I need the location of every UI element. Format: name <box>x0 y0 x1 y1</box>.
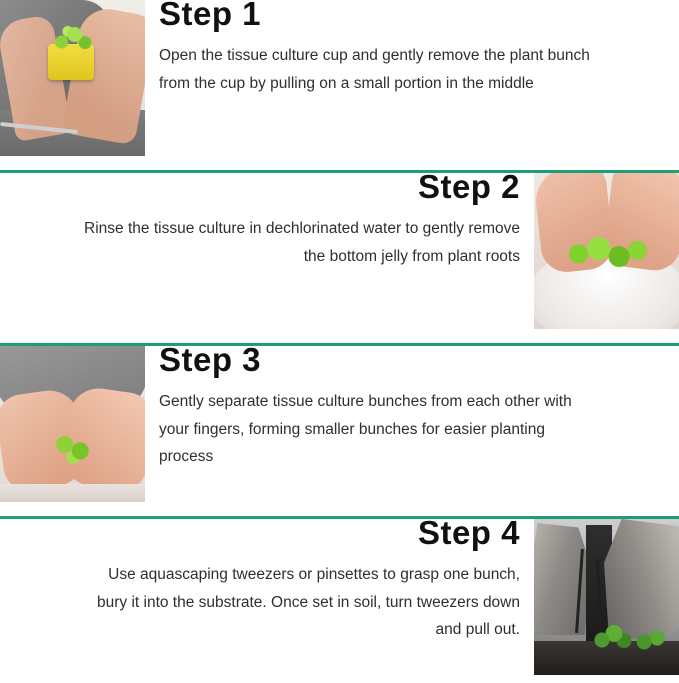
step-4-text-column: Step 4 Use aquascaping tweezers or pinse… <box>0 519 534 683</box>
step-1-title: Step 1 <box>159 0 261 32</box>
step-1-row: Step 1 Open the tissue culture cup and g… <box>0 0 679 170</box>
instruction-steps-page: Step 1 Open the tissue culture cup and g… <box>0 0 679 683</box>
step-3-photo <box>0 346 145 502</box>
step-3-row: Step 3 Gently separate tissue culture bu… <box>0 346 679 516</box>
surface-shape <box>0 484 145 502</box>
step-4-body: Use aquascaping tweezers or pinsettes to… <box>80 561 520 644</box>
step-2-row: Step 2 Rinse the tissue culture in dechl… <box>0 173 679 343</box>
green-plant-shape <box>46 24 98 54</box>
step-1-text-column: Step 1 Open the tissue culture cup and g… <box>145 0 679 170</box>
step-3-body: Gently separate tissue culture bunches f… <box>159 388 599 471</box>
step-1-photo <box>0 0 145 156</box>
step-1-body: Open the tissue culture cup and gently r… <box>159 42 599 97</box>
step-2-text-column: Step 2 Rinse the tissue culture in dechl… <box>0 173 534 343</box>
green-plant-shape <box>562 231 654 275</box>
step-3-text-column: Step 3 Gently separate tissue culture bu… <box>145 346 679 516</box>
step-3-title: Step 3 <box>159 342 261 378</box>
green-plant-shape <box>50 430 102 466</box>
step-4-row: Step 4 Use aquascaping tweezers or pinse… <box>0 519 679 683</box>
step-4-photo <box>534 519 679 675</box>
green-plant-shape <box>592 619 632 649</box>
step-2-body: Rinse the tissue culture in dechlorinate… <box>80 215 520 270</box>
step-2-photo <box>534 173 679 329</box>
green-plant-shape <box>634 625 668 651</box>
step-2-title: Step 2 <box>418 169 520 205</box>
step-4-title: Step 4 <box>418 515 520 551</box>
